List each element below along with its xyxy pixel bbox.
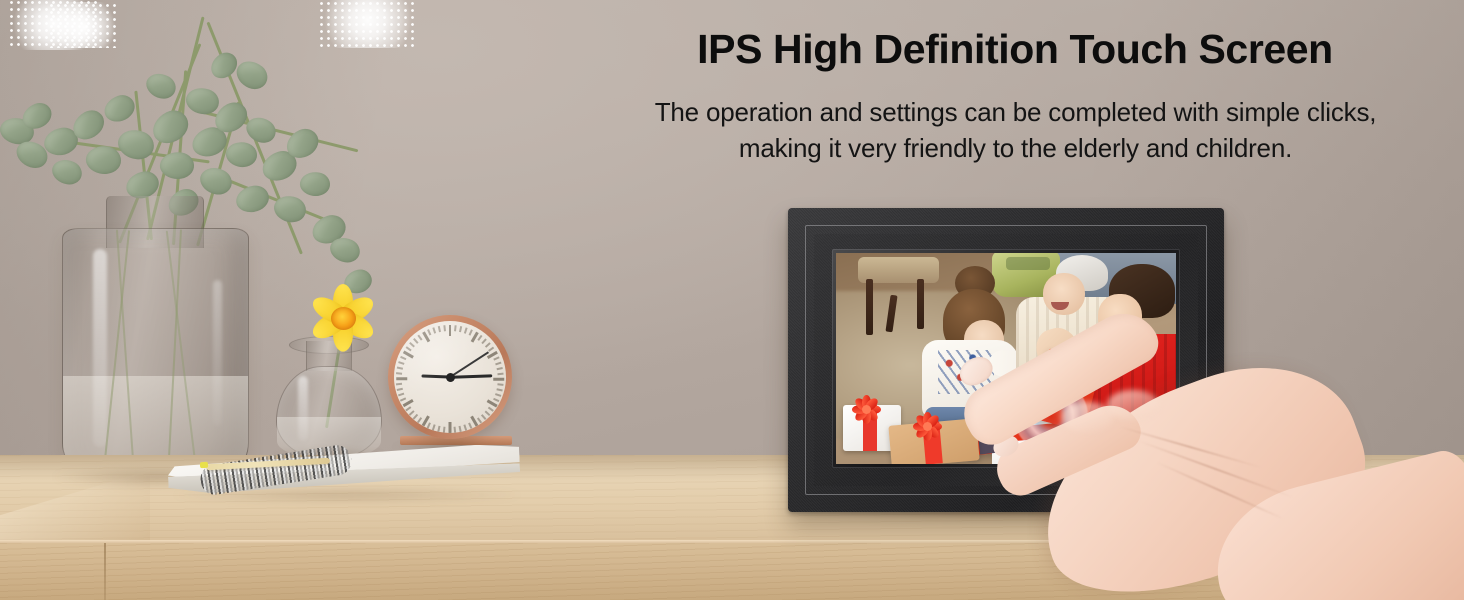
knuckle	[1061, 402, 1113, 432]
daffodil-trumpet	[331, 307, 356, 330]
hand-pointing	[965, 338, 1464, 600]
pencil-eraser	[200, 462, 208, 468]
chair-leg	[866, 279, 873, 335]
subtitle-line-2: making it very friendly to the elderly a…	[583, 131, 1448, 167]
subtitle: The operation and settings can be comple…	[583, 95, 1448, 167]
submerged-stems	[63, 229, 248, 482]
glass-vase-large	[62, 228, 249, 483]
product-banner-scene: IPS High Definition Touch Screen The ope…	[0, 0, 1464, 600]
vase-highlight	[298, 376, 308, 440]
clock-glass	[394, 321, 506, 433]
queen-annes-lace-bloom	[318, 0, 418, 48]
page-title: IPS High Definition Touch Screen	[630, 27, 1400, 73]
subtitle-line-1: The operation and settings can be comple…	[583, 95, 1448, 131]
gift-bow-icon	[911, 413, 945, 439]
desk-clock	[388, 315, 512, 439]
chair-leg	[886, 294, 898, 332]
gift-bow-icon	[850, 396, 884, 422]
queen-annes-lace-bloom	[48, 2, 120, 48]
knuckle	[1107, 390, 1159, 420]
daffodil-flower	[304, 282, 382, 354]
desk-panel-seam	[104, 543, 106, 600]
